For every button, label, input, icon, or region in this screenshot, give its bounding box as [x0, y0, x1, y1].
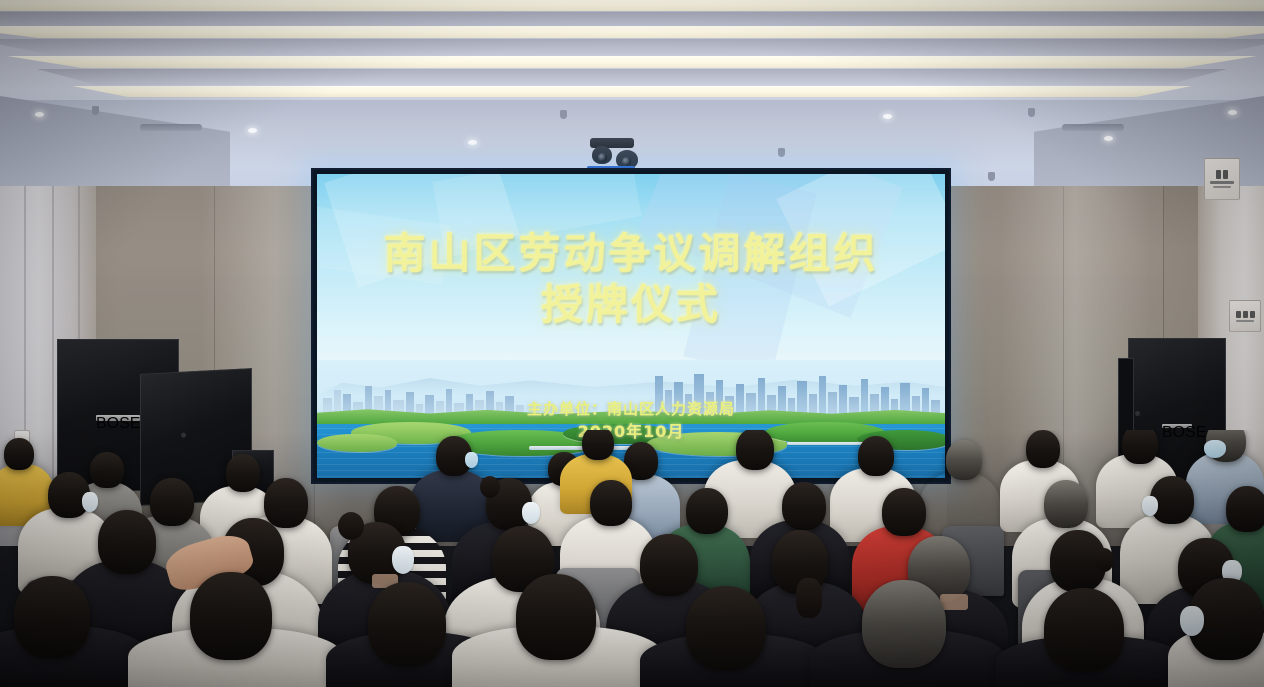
bose-logo: BOSE: [96, 415, 140, 421]
conference-hall-photo: 南山区劳动争议调解组织 授牌仪式 主办单位：南山区人力资源局 2020年10月 …: [0, 0, 1264, 687]
slide-title: 南山区劳动争议调解组织 授牌仪式: [317, 228, 945, 330]
downlight-6: [1228, 110, 1237, 115]
sprinkler-7: [988, 172, 995, 181]
wall-notice-sign-upper: [1204, 158, 1240, 200]
downlight-5: [35, 112, 44, 117]
audience-seating-area: 社区党群服务中心 COMMUNITY PARTY SERVICE CENTER …: [0, 430, 1264, 687]
sprinkler-2: [560, 110, 567, 119]
wall-notice-sign-lower: [1229, 300, 1261, 332]
ceiling-light-cove-2: [0, 26, 1264, 38]
downlight-2: [468, 140, 477, 145]
ceiling-groove-1: [0, 12, 1264, 27]
ceiling-light-cove-1: [0, 0, 1264, 11]
camera-lens-icon: [622, 157, 631, 166]
ceiling-vent-left: [140, 124, 202, 131]
sprinkler-3: [1028, 108, 1035, 117]
bose-logo: BOSE: [1162, 424, 1192, 428]
slide-organizer-line: 主办单位：南山区人力资源局: [317, 398, 945, 419]
ceiling-light-cove-3: [7, 56, 1257, 68]
sprinkler-1: [92, 106, 99, 115]
ceiling-groove-2: [0, 39, 1264, 55]
sprinkler-5: [778, 148, 785, 157]
downlight-1: [248, 128, 257, 133]
downlight-3: [1104, 136, 1113, 141]
ceiling-vent-right: [1062, 124, 1124, 131]
camera-lens-icon: [598, 153, 607, 162]
ceiling-groove-3: [37, 69, 1227, 85]
ceiling-light-cove-4: [72, 86, 1192, 97]
ceiling-camera-left: [592, 146, 612, 164]
downlight-4: [883, 114, 892, 119]
